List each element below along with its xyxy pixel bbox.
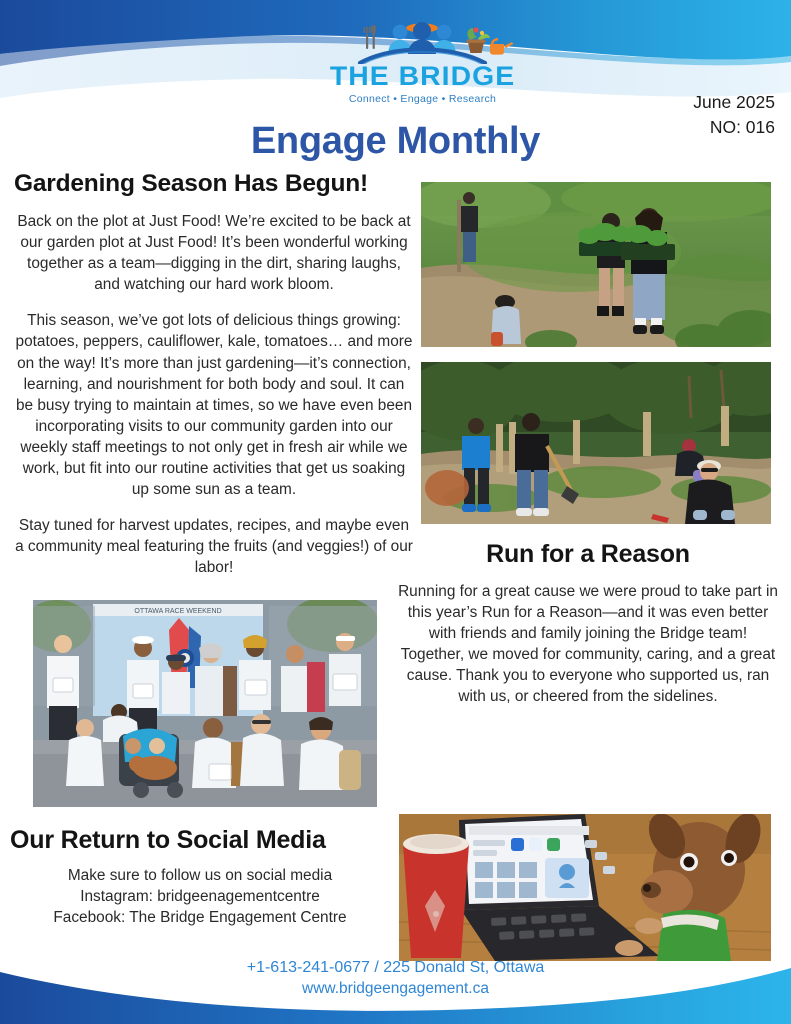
photo-garden-planting	[421, 182, 771, 347]
brand-logo: THE BRIDGE Connect • Engage • Research	[330, 18, 515, 110]
logo-tagline: Connect • Engage • Research	[330, 93, 515, 105]
section-run-for-a-reason: Run for a Reason Running for a great cau…	[398, 540, 778, 708]
social-instagram: Instagram: bridgeenagementcentre	[10, 886, 390, 907]
social-line: Make sure to follow us on social media	[10, 865, 390, 886]
photo-race-group: OTTAWA RACE WEEKEND	[33, 600, 377, 807]
run-heading: Run for a Reason	[398, 540, 778, 569]
photo-dog-laptop	[399, 814, 771, 961]
logo-wordmark: THE BRIDGE	[325, 63, 519, 90]
photo-garden-digging	[421, 362, 771, 524]
gardening-paragraph: This season, we’ve got lots of delicious…	[14, 310, 414, 500]
page-title: Engage Monthly	[0, 120, 791, 163]
bridge-logo-icon	[330, 18, 515, 64]
issue-date: June 2025	[693, 90, 775, 115]
social-heading: Our Return to Social Media	[10, 826, 390, 855]
section-gardening: Gardening Season Has Begun! Back on the …	[14, 170, 414, 579]
gardening-heading: Gardening Season Has Begun!	[14, 170, 414, 198]
gardening-paragraph: Stay tuned for harvest updates, recipes,…	[14, 515, 414, 578]
social-facebook: Facebook: The Bridge Engagement Centre	[10, 907, 390, 928]
footer-website[interactable]: www.bridgeengagement.ca	[0, 979, 791, 1000]
gardening-paragraph: Back on the plot at Just Food! We’re exc…	[14, 211, 414, 295]
footer-phone-address: +1-613-241-0677 / 225 Donald St, Ottawa	[0, 957, 791, 979]
footer-contact: +1-613-241-0677 / 225 Donald St, Ottawa …	[0, 957, 791, 1000]
run-body: Running for a great cause we were proud …	[398, 581, 778, 708]
run-paragraph: Running for a great cause we were proud …	[398, 581, 778, 708]
svg-text:OTTAWA RACE WEEKEND: OTTAWA RACE WEEKEND	[134, 608, 221, 615]
gardening-body: Back on the plot at Just Food! We’re exc…	[14, 211, 414, 579]
section-social-media: Our Return to Social Media Make sure to …	[10, 826, 390, 928]
social-body: Make sure to follow us on social media I…	[10, 865, 390, 928]
